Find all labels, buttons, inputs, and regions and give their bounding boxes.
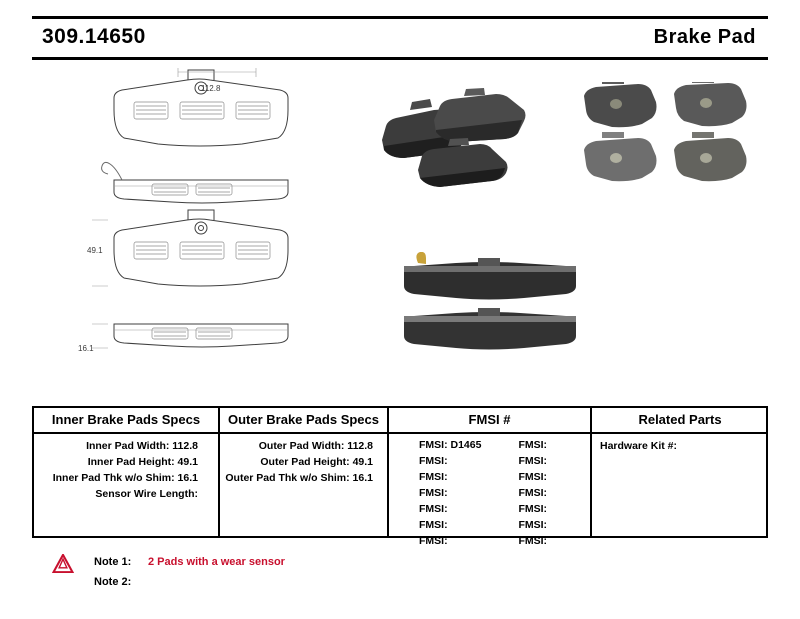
fmsi-row: FMSI: FMSI: bbox=[389, 517, 590, 533]
spec-column-fmsi: FMSI # FMSI: D1465 FMSI: FMSI: FMSI: FMS… bbox=[389, 408, 592, 536]
page-title: Brake Pad bbox=[654, 26, 756, 49]
part-number: 309.14650 bbox=[42, 25, 146, 49]
technical-drawing: 112.8 49.1 16.1 bbox=[32, 68, 768, 398]
spec-column-related-parts-body: Hardware Kit #: bbox=[592, 434, 768, 454]
fmsi-left: FMSI: D1465 bbox=[389, 437, 508, 453]
note-1-value: 2 Pads with a wear sensor bbox=[148, 552, 285, 572]
spec-row: Inner Pad Width: 112.8 bbox=[34, 438, 218, 454]
fmsi-left: FMSI: bbox=[389, 533, 508, 549]
pad-photo-cluster-right bbox=[572, 82, 752, 192]
fmsi-right: FMSI: bbox=[508, 501, 590, 517]
spec-column-inner: Inner Brake Pads Specs Inner Pad Width: … bbox=[34, 408, 220, 536]
fmsi-row: FMSI: FMSI: bbox=[389, 485, 590, 501]
specifications-table: Inner Brake Pads Specs Inner Pad Width: … bbox=[32, 406, 768, 538]
fmsi-left: FMSI: bbox=[389, 517, 508, 533]
spec-row: Inner Pad Height: 49.1 bbox=[34, 454, 218, 470]
left-orthographic-views bbox=[92, 68, 382, 378]
fmsi-row: FMSI: FMSI: bbox=[389, 453, 590, 469]
note-row-1: Note 1: 2 Pads with a wear sensor bbox=[52, 552, 552, 572]
fmsi-right: FMSI: bbox=[508, 533, 590, 549]
notes-section: Note 1: 2 Pads with a wear sensor Note 2… bbox=[52, 552, 552, 592]
fmsi-right: FMSI: bbox=[508, 453, 590, 469]
spec-column-related-parts: Related Parts Hardware Kit #: bbox=[592, 408, 768, 536]
spec-column-fmsi-body: FMSI: D1465 FMSI: FMSI: FMSI: FMSI: FMSI… bbox=[389, 434, 590, 549]
header-bar: 309.14650 Brake Pad bbox=[32, 16, 768, 60]
fmsi-right: FMSI: bbox=[508, 517, 590, 533]
fmsi-row: FMSI: D1465 FMSI: bbox=[389, 437, 590, 453]
note-1-label: Note 1: bbox=[94, 552, 131, 572]
spec-column-fmsi-title: FMSI # bbox=[389, 412, 590, 427]
fmsi-right: FMSI: bbox=[508, 469, 590, 485]
fmsi-row: FMSI: FMSI: bbox=[389, 501, 590, 517]
spec-row: Outer Pad Height: 49.1 bbox=[220, 454, 387, 470]
spec-row: Sensor Wire Length: bbox=[34, 486, 218, 502]
spec-column-outer-body: Outer Pad Width: 112.8 Outer Pad Height:… bbox=[220, 434, 387, 486]
fmsi-left: FMSI: bbox=[389, 453, 508, 469]
fmsi-left: FMSI: bbox=[389, 485, 508, 501]
spec-column-inner-title: Inner Brake Pads Specs bbox=[34, 412, 218, 427]
pad-photo-edge-views bbox=[400, 252, 580, 352]
spec-column-outer: Outer Brake Pads Specs Outer Pad Width: … bbox=[220, 408, 389, 536]
spec-row: Inner Pad Thk w/o Shim: 16.1 bbox=[34, 470, 218, 486]
fmsi-right: FMSI: bbox=[508, 485, 590, 501]
spec-column-related-parts-title: Related Parts bbox=[592, 412, 768, 427]
fmsi-left: FMSI: bbox=[389, 501, 508, 517]
fmsi-row: FMSI: FMSI: bbox=[389, 469, 590, 485]
dimension-height-label: 49.1 bbox=[87, 246, 103, 255]
dimension-thickness-label: 16.1 bbox=[78, 344, 94, 353]
spec-row: Outer Pad Thk w/o Shim: 16.1 bbox=[220, 470, 387, 486]
dimension-width-label: 112.8 bbox=[201, 84, 220, 93]
pad-photo-cluster-left bbox=[372, 88, 562, 198]
spec-row: Outer Pad Width: 112.8 bbox=[220, 438, 387, 454]
fmsi-left: FMSI: bbox=[389, 469, 508, 485]
fmsi-row: FMSI: FMSI: bbox=[389, 533, 590, 549]
spec-column-inner-body: Inner Pad Width: 112.8 Inner Pad Height:… bbox=[34, 434, 218, 502]
spec-row: Hardware Kit #: bbox=[592, 438, 768, 454]
fmsi-right: FMSI: bbox=[508, 437, 590, 453]
note-2-label: Note 2: bbox=[94, 572, 131, 592]
note-row-2: Note 2: bbox=[52, 572, 552, 592]
spec-column-outer-title: Outer Brake Pads Specs bbox=[220, 412, 387, 427]
